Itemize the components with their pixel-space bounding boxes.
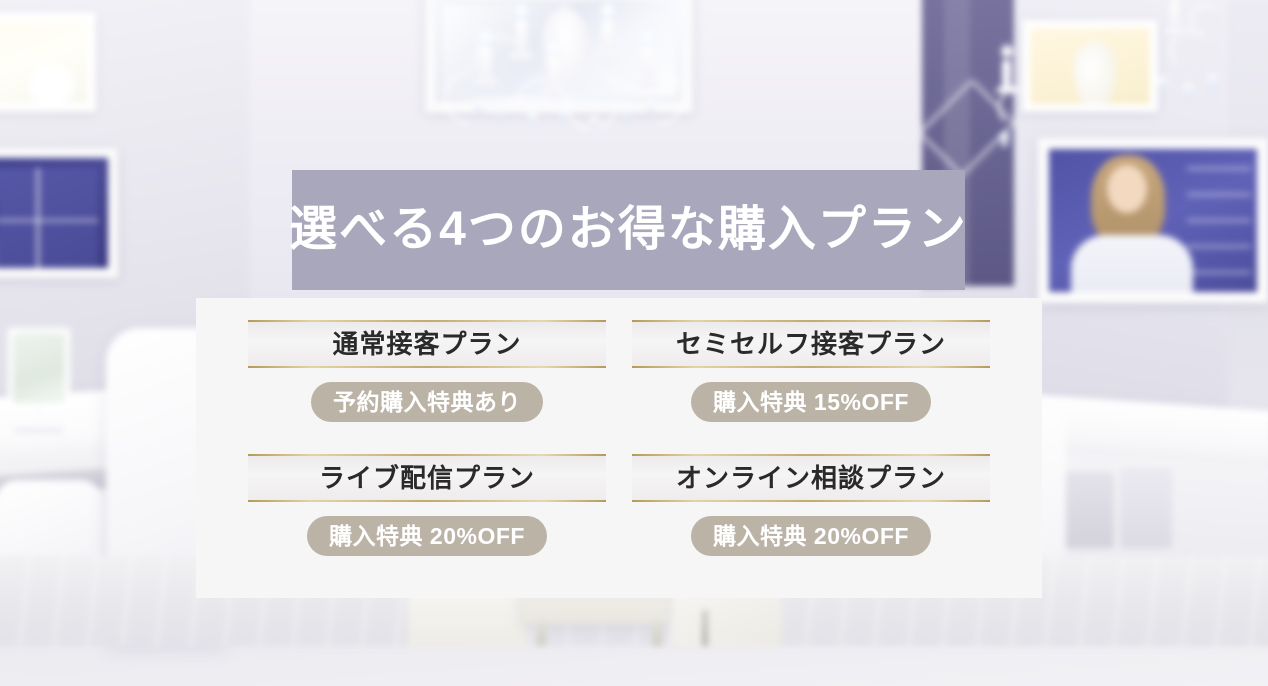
plan-card-normal[interactable]: 通常接客プラン 予約購入特典あり xyxy=(248,320,606,440)
wall-sconce-icon xyxy=(0,0,22,104)
table-mirror-icon xyxy=(8,328,70,408)
plan-card-online-consult[interactable]: オンライン相談プラン 購入特典 20%OFF xyxy=(632,454,990,574)
plan-name: セミセルフ接客プラン xyxy=(676,331,946,357)
mirror-reflection xyxy=(29,63,75,107)
plan-benefit-badge: 購入特典 15%OFF xyxy=(691,382,931,422)
plan-name: 通常接客プラン xyxy=(332,331,521,357)
plan-card-semi-self[interactable]: セミセルフ接客プラン 購入特典 15%OFF xyxy=(632,320,990,440)
person-body xyxy=(1071,235,1193,303)
plan-name: オンライン相談プラン xyxy=(676,465,946,491)
vase-icon xyxy=(1074,42,1116,110)
chandelier-icon xyxy=(430,0,700,145)
wall-sconce-icon xyxy=(1148,0,1228,130)
plan-header: ライブ配信プラン xyxy=(248,454,606,502)
plan-header: オンライン相談プラン xyxy=(632,454,990,502)
plan-benefit-badge: 購入特典 20%OFF xyxy=(691,516,931,556)
plan-name: ライブ配信プラン xyxy=(319,465,535,491)
plan-benefit-badge: 購入特典 20%OFF xyxy=(307,516,547,556)
plan-benefit-badge: 予約購入特典あり xyxy=(311,382,543,422)
framed-photo-icon xyxy=(1038,138,1268,303)
wall-sconce-icon xyxy=(996,38,1056,168)
person-face xyxy=(1107,165,1147,213)
shelf xyxy=(1187,167,1251,303)
plan-header: セミセルフ接客プラン xyxy=(632,320,990,368)
promo-banner-stage: 選べる4つのお得な購入プラン 通常接客プラン 予約購入特典あり セミセルフ接客プ… xyxy=(0,0,1268,686)
plan-card-live-streaming[interactable]: ライブ配信プラン 購入特典 20%OFF xyxy=(248,454,606,574)
plan-header: 通常接客プラン xyxy=(248,320,606,368)
storage-bin-icon xyxy=(1120,468,1172,548)
hero-title-banner: 選べる4つのお得な購入プラン xyxy=(292,170,965,290)
framed-photo-icon xyxy=(0,148,118,278)
page-title: 選べる4つのお得な購入プラン xyxy=(289,206,968,254)
window-pane xyxy=(0,168,98,273)
plans-panel: 通常接客プラン 予約購入特典あり セミセルフ接客プラン 購入特典 15%OFF … xyxy=(196,298,1042,598)
